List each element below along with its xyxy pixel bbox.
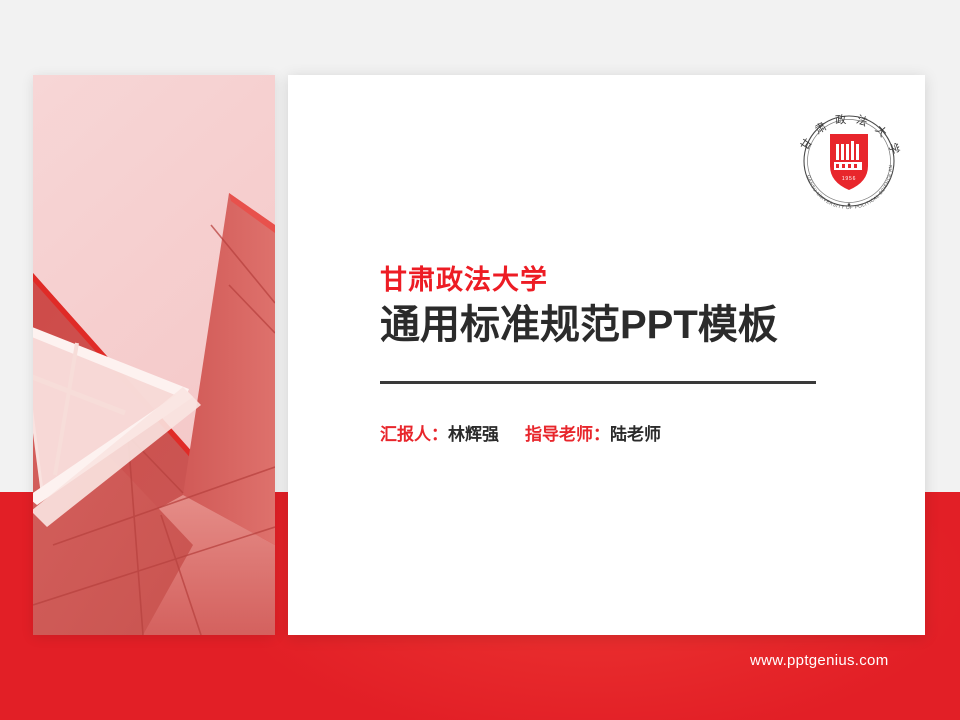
page-title: 通用标准规范PPT模板 <box>380 302 820 348</box>
university-logo: 甘肃政法大学 GANSU UNIVERSITY OF POLITICAL SCI… <box>786 108 912 214</box>
title-divider <box>380 381 816 384</box>
advisor-name: 陆老师 <box>610 425 661 444</box>
byline: 汇报人：林辉强指导老师：陆老师 <box>380 424 661 446</box>
presenter-label: 汇报人： <box>380 425 448 444</box>
slide-canvas: 甘肃政法大学 GANSU UNIVERSITY OF POLITICAL SCI… <box>0 0 960 720</box>
svg-text:1956: 1956 <box>842 176 856 182</box>
footer-url[interactable]: www.pptgenius.com <box>750 652 889 669</box>
title-block: 甘肃政法大学 通用标准规范PPT模板 <box>380 265 820 348</box>
architecture-photo-illustration <box>33 75 275 635</box>
crest-icon: 甘肃政法大学 GANSU UNIVERSITY OF POLITICAL SCI… <box>786 108 912 214</box>
decorative-photo-panel <box>33 75 275 635</box>
advisor-label: 指导老师： <box>525 425 610 444</box>
presenter-name: 林辉强 <box>448 425 499 444</box>
university-name: 甘肃政法大学 <box>380 265 820 296</box>
